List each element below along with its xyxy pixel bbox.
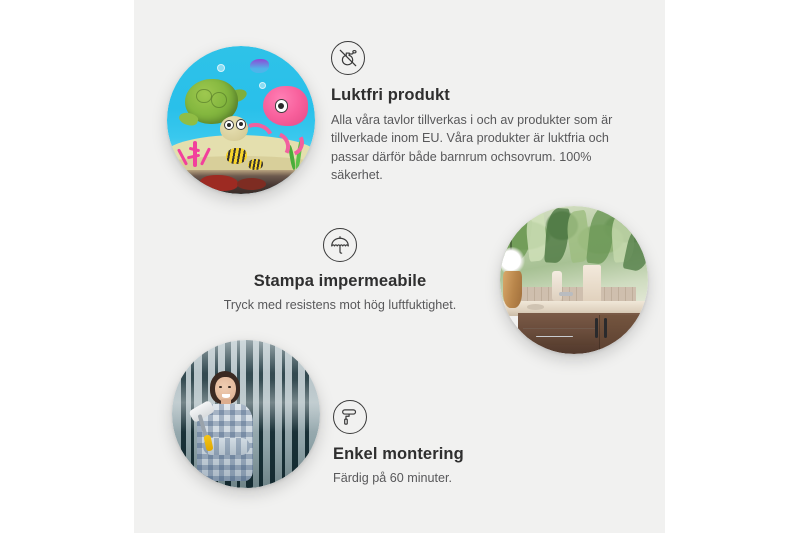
woman-smile — [222, 394, 230, 398]
feature-block-odour-free: Luktfri produkt Alla våra tavlor tillver… — [331, 41, 631, 185]
feature-title: Luktfri produkt — [331, 86, 631, 105]
vanity-drawer — [523, 328, 595, 345]
wooden-vanity-cabinet — [518, 313, 648, 354]
feature-description: Alla våra tavlor tillverkas i och av pro… — [331, 111, 631, 185]
soap-dish — [527, 304, 545, 310]
cabinet-handle — [595, 318, 598, 337]
cabinet-handle — [604, 318, 607, 337]
woman-paint-roller-circle — [172, 340, 320, 488]
bathroom-vanity-circle — [500, 206, 648, 354]
rolled-towel — [583, 265, 601, 305]
feature-description: Tryck med resistens mot hög luftfuktighe… — [210, 296, 470, 314]
feature-title: Enkel montering — [333, 445, 593, 464]
feature-block-easy-assembly: Enkel montering Färdig på 60 minuter. — [333, 400, 593, 487]
gold-vase — [503, 271, 522, 308]
umbrella-icon — [323, 228, 357, 262]
feature-description: Färdig på 60 minuter. — [333, 469, 593, 487]
purple-fish — [250, 59, 269, 72]
paint-roller-icon — [333, 400, 367, 434]
pink-coral — [176, 135, 214, 168]
product-feature-page: Luktfri produkt Alla våra tavlor tillver… — [0, 0, 800, 533]
bubble-icon — [217, 64, 225, 72]
feature-block-waterproof-print: Stampa impermeabile Tryck med resistens … — [210, 228, 470, 314]
turtle-eye — [236, 119, 246, 129]
faucet — [559, 292, 572, 296]
no-fragrance-icon — [331, 41, 365, 75]
underwater-cartoon-circle — [167, 46, 315, 194]
feature-title: Stampa impermeabile — [210, 272, 470, 291]
soap-bottle — [552, 271, 562, 301]
bubble-icon — [259, 82, 266, 89]
red-coral-foreground — [237, 178, 267, 190]
